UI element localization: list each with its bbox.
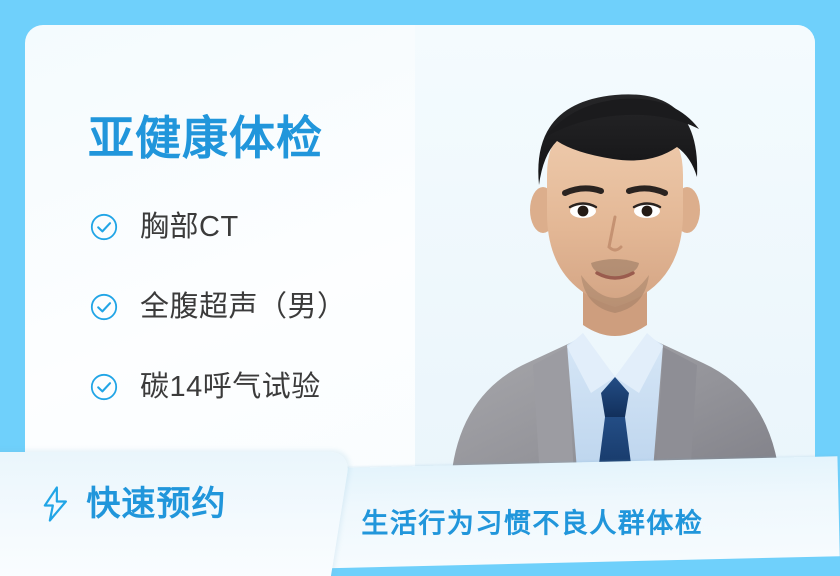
feature-label: 胸部CT — [140, 213, 239, 242]
feature-label: 全腹超声（男） — [140, 293, 347, 322]
portrait-photo — [415, 25, 815, 495]
list-item: 胸部CT — [90, 207, 347, 247]
quick-booking-button[interactable]: 快速预约 — [0, 452, 351, 576]
list-item: 全腹超声（男） — [90, 287, 347, 327]
quick-booking-content: 快速预约 — [40, 486, 226, 522]
list-item: 碳14呼气试验 — [90, 367, 347, 407]
quick-booking-label: 快速预约 — [86, 487, 226, 521]
lightning-bolt-icon — [40, 486, 70, 522]
health-checkup-banner: 亚健康体检 胸部CT 全腹超声（男） — [0, 0, 840, 576]
check-circle-icon — [90, 293, 118, 321]
check-circle-icon — [90, 373, 118, 401]
check-circle-icon — [90, 213, 118, 241]
feature-list: 胸部CT 全腹超声（男） 碳14呼气试验 — [90, 207, 347, 447]
page-title: 亚健康体检 — [88, 115, 323, 161]
tagline-text: 生活行为习惯不良人群体检 — [361, 501, 703, 540]
feature-label: 碳14呼气试验 — [140, 373, 321, 402]
